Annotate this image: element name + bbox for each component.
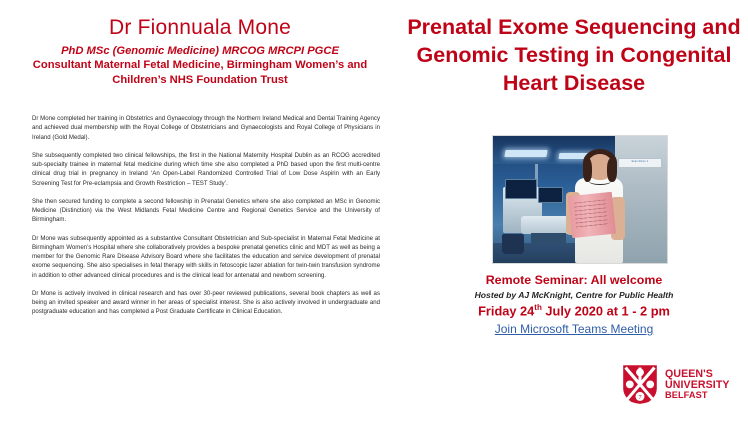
bio-paragraph: Dr Mone completed her training in Obstet… bbox=[32, 114, 380, 142]
photo-ceiling-light bbox=[505, 150, 548, 157]
join-teams-meeting-link[interactable]: Join Microsoft Teams Meeting bbox=[495, 321, 654, 338]
seminar-date-prefix: Friday 24 bbox=[478, 303, 534, 318]
speaker-biography: Dr Mone completed her training in Obstet… bbox=[32, 114, 380, 326]
qub-shield-icon: 7 bbox=[622, 364, 658, 406]
photo-background: Scan Room 1 bbox=[493, 136, 667, 263]
photo-folder-lines bbox=[573, 200, 607, 229]
bio-paragraph: She then secured funding to complete a s… bbox=[32, 197, 380, 225]
seminar-poster: Dr Fionnuala Mone PhD MSc (Genomic Medic… bbox=[0, 0, 748, 421]
speaker-role: Consultant Maternal Fetal Medicine, Birm… bbox=[14, 58, 386, 88]
qub-logo: 7 QUEEN'S UNIVERSITY BELFAST bbox=[622, 362, 744, 408]
scan-room-sign: Scan Room 1 bbox=[618, 158, 662, 169]
photo-pink-folders bbox=[567, 192, 615, 238]
photo-monitor bbox=[505, 179, 537, 199]
qub-wordmark: QUEEN'S UNIVERSITY BELFAST bbox=[665, 369, 730, 401]
photo-monitor bbox=[538, 187, 563, 203]
qub-wordmark-line3: BELFAST bbox=[665, 391, 730, 401]
scan-room-sign-label: Scan Room 1 bbox=[619, 160, 661, 163]
photo-stool bbox=[502, 234, 525, 254]
seminar-details: Remote Seminar: All welcome Hosted by AJ… bbox=[400, 272, 748, 339]
speaker-qualifications: PhD MSc (Genomic Medicine) MRCOG MRCPI P… bbox=[8, 44, 392, 58]
bio-paragraph: She subsequently completed two clinical … bbox=[32, 151, 380, 188]
seminar-date-suffix: July 2020 at 1 - 2 pm bbox=[542, 303, 670, 318]
bio-paragraph: Dr Mone is actively involved in clinical… bbox=[32, 289, 380, 317]
seminar-date-line: Friday 24th July 2020 at 1 - 2 pm bbox=[400, 302, 748, 321]
speaker-photo: Scan Room 1 bbox=[492, 135, 668, 264]
bio-paragraph: Dr Mone was subsequently appointed as a … bbox=[32, 234, 380, 280]
seminar-type-line: Remote Seminar: All welcome bbox=[400, 272, 748, 289]
seminar-date-ordinal: th bbox=[534, 303, 542, 312]
speaker-name: Dr Fionnuala Mone bbox=[0, 16, 400, 39]
seminar-host-line: Hosted by AJ McKnight, Centre for Public… bbox=[400, 289, 748, 302]
talk-title: Prenatal Exome Sequencing and Genomic Te… bbox=[406, 14, 742, 98]
speaker-panel: Dr Fionnuala Mone PhD MSc (Genomic Medic… bbox=[0, 0, 400, 421]
event-panel: Prenatal Exome Sequencing and Genomic Te… bbox=[400, 0, 748, 421]
